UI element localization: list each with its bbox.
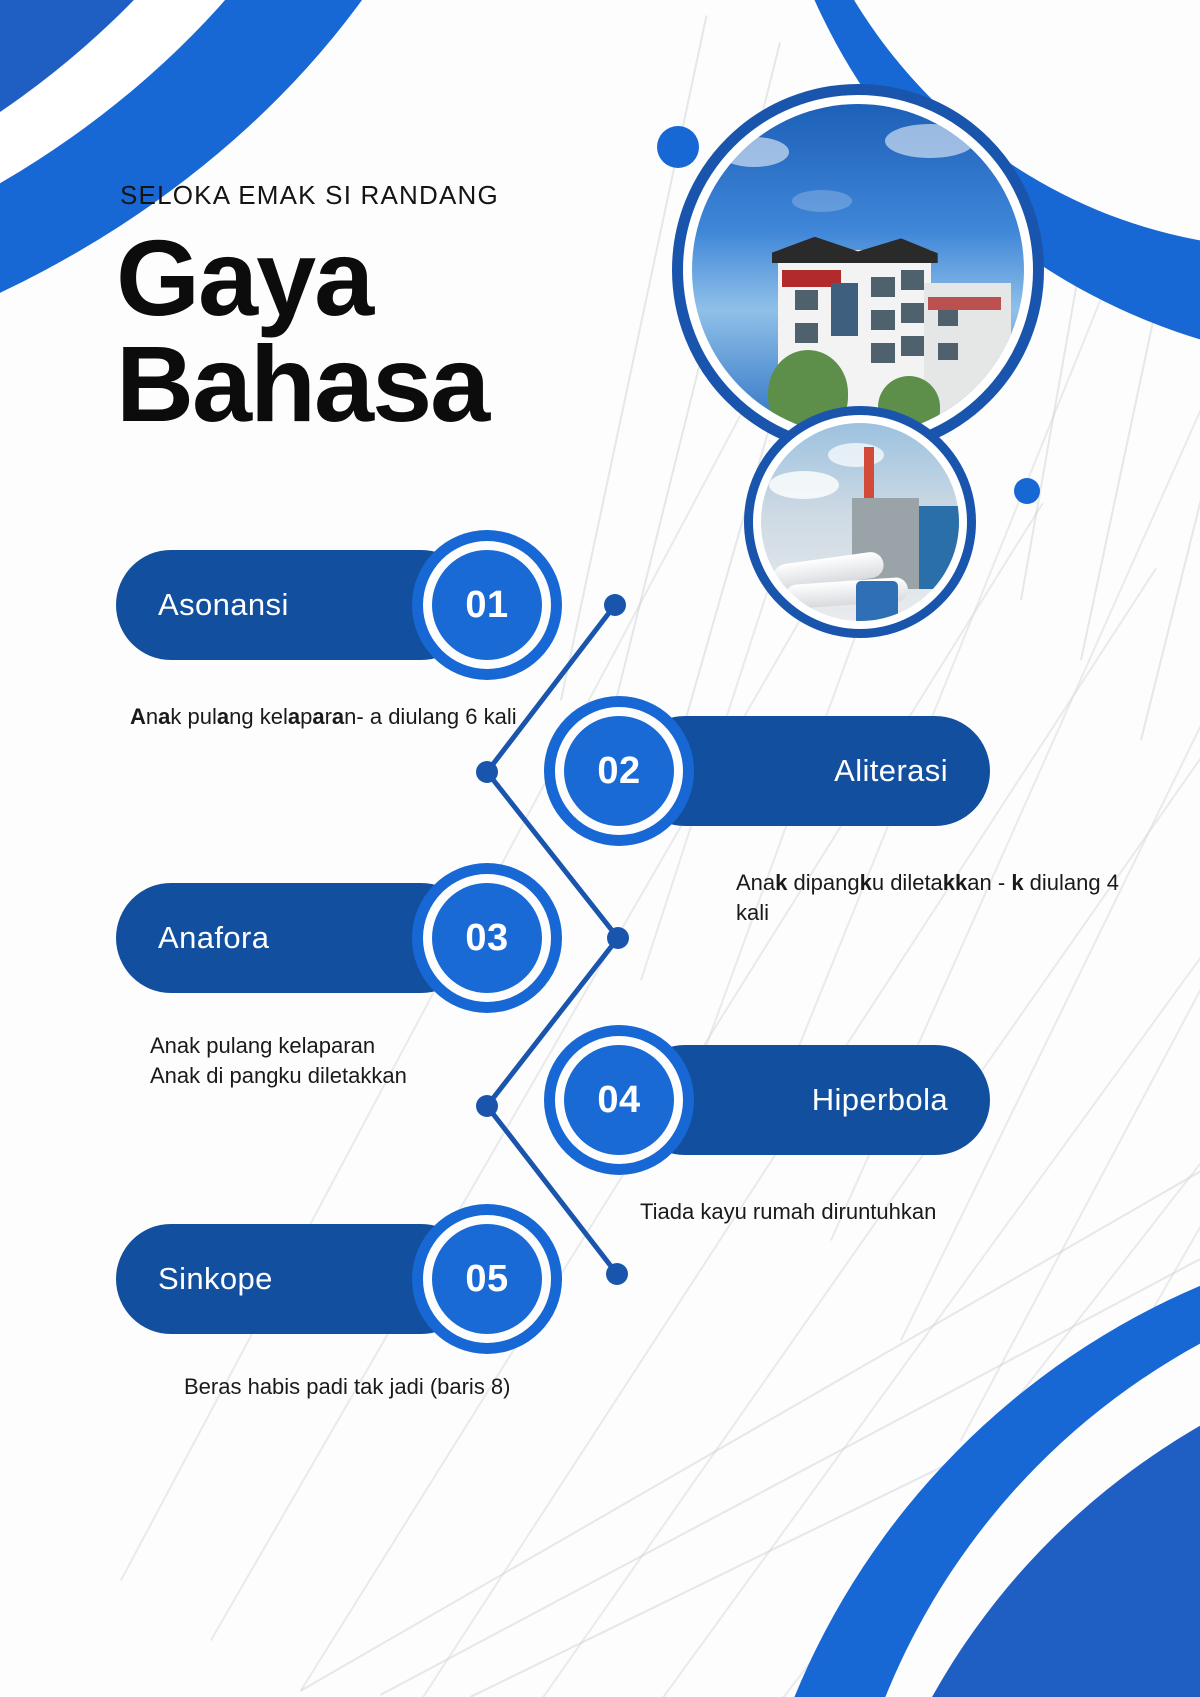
- step-01-number: 01: [465, 584, 508, 627]
- photo-construction-small-image: [761, 423, 959, 621]
- infographic-poster: SELOKA EMAK SI RANDANG Gaya Bahasa: [0, 0, 1200, 1697]
- step-01-label: Asonansi: [158, 587, 289, 623]
- photo-building-large: [672, 84, 1044, 456]
- step-02-label: Aliterasi: [834, 753, 948, 789]
- title-line-2: Bahasa: [116, 331, 488, 437]
- accent-dot-right: [1014, 478, 1040, 504]
- step-02-number-badge: 02: [544, 696, 694, 846]
- step-03-caption: Anak pulang kelaparanAnak di pangku dile…: [150, 1031, 550, 1090]
- step-05-number-badge: 05: [412, 1204, 562, 1354]
- step-04-caption: Tiada kayu rumah diruntuhkan: [640, 1197, 1060, 1227]
- step-05[interactable]: Sinkope 05 Beras habis padi tak jadi (ba…: [116, 1224, 576, 1334]
- photo-construction-small: [744, 406, 976, 638]
- step-03-label: Anafora: [158, 920, 269, 956]
- step-01[interactable]: Asonansi 01 Anak pulang kelaparan- a diu…: [116, 550, 576, 660]
- step-03-number-badge: 03: [412, 863, 562, 1013]
- poster-kicker: SELOKA EMAK SI RANDANG: [120, 180, 499, 211]
- step-03-pill[interactable]: Anafora 03: [116, 883, 576, 993]
- step-04[interactable]: Hiperbola 04 Tiada kayu rumah diruntuhka…: [530, 1045, 990, 1155]
- step-03-number: 03: [465, 917, 508, 960]
- step-04-number: 04: [597, 1079, 640, 1122]
- step-02-caption: Anak dipangku diletakkan - k diulang 4 k…: [736, 868, 1136, 927]
- page-title: Gaya Bahasa: [116, 225, 488, 437]
- step-02[interactable]: Aliterasi 02 Anak dipangku diletakkan - …: [530, 716, 990, 826]
- photo-building-large-image: [692, 104, 1024, 436]
- accent-dot-top: [657, 126, 699, 168]
- step-05-label: Sinkope: [158, 1261, 273, 1297]
- step-04-number-badge: 04: [544, 1025, 694, 1175]
- title-line-1: Gaya: [116, 225, 488, 331]
- step-01-number-badge: 01: [412, 530, 562, 680]
- step-03[interactable]: Anafora 03 Anak pulang kelaparanAnak di …: [116, 883, 576, 993]
- step-02-number: 02: [597, 750, 640, 793]
- step-01-pill[interactable]: Asonansi 01: [116, 550, 576, 660]
- step-05-number: 05: [465, 1258, 508, 1301]
- step-05-caption: Beras habis padi tak jadi (baris 8): [184, 1372, 644, 1402]
- step-01-caption: Anak pulang kelaparan- a diulang 6 kali: [130, 702, 530, 732]
- step-02-pill[interactable]: Aliterasi 02: [530, 716, 990, 826]
- step-04-label: Hiperbola: [812, 1082, 948, 1118]
- step-05-pill[interactable]: Sinkope 05: [116, 1224, 576, 1334]
- step-04-pill[interactable]: Hiperbola 04: [530, 1045, 990, 1155]
